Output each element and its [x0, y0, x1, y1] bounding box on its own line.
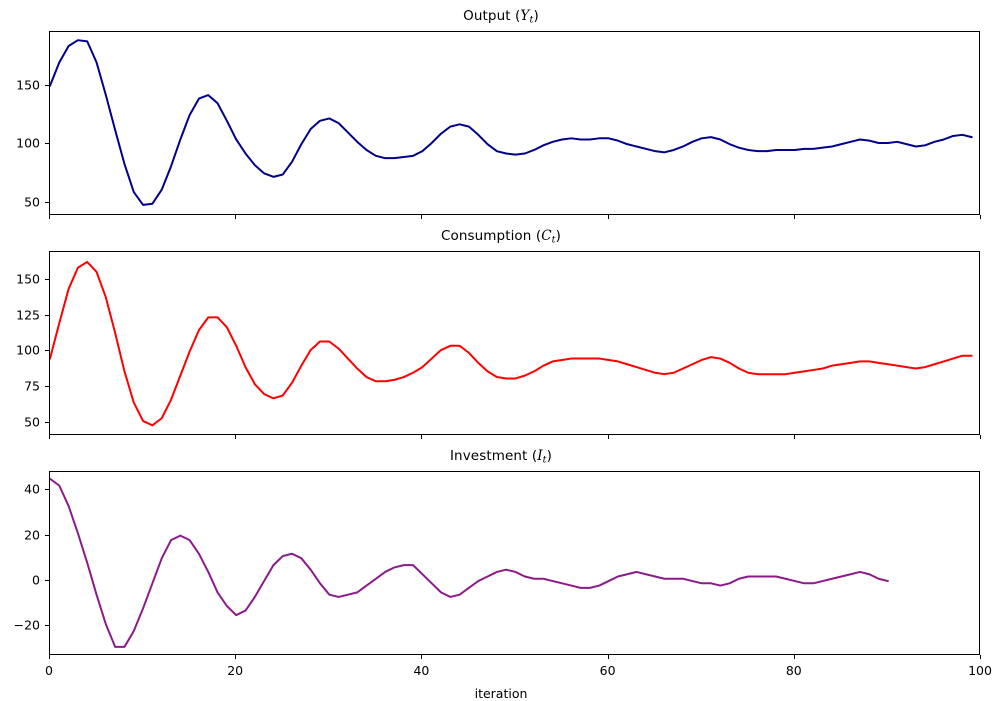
ytick-mark	[45, 489, 49, 490]
plot-area-investment	[49, 471, 980, 655]
xtick-mark	[49, 655, 50, 659]
xtick-mark	[608, 655, 609, 659]
xtick-mark	[794, 215, 795, 219]
panel-title-output: Output (Yt)	[0, 8, 1002, 25]
ytick-mark	[45, 386, 49, 387]
plot-area-output	[49, 31, 980, 215]
xtick-mark	[49, 435, 50, 439]
xtick-mark	[980, 435, 981, 439]
series-canvas-consumption	[50, 252, 981, 436]
xtick-mark	[235, 435, 236, 439]
ytick-mark	[45, 202, 49, 203]
ytick-label: −20	[0, 618, 40, 633]
series-canvas-output	[50, 32, 981, 216]
ytick-label: 75	[0, 378, 40, 393]
xtick-label: 80	[786, 663, 802, 678]
xtick-mark	[235, 655, 236, 659]
ytick-label: 50	[0, 414, 40, 429]
data-line-consumption	[50, 262, 972, 425]
xtick-mark	[421, 215, 422, 219]
xtick-mark	[980, 215, 981, 219]
xtick-label: 100	[968, 663, 992, 678]
xtick-mark	[794, 435, 795, 439]
xtick-label: 0	[45, 663, 53, 678]
plot-area-consumption	[49, 251, 980, 435]
xtick-mark	[421, 435, 422, 439]
panel-title-investment: Investment (It)	[0, 448, 1002, 465]
ytick-mark	[45, 279, 49, 280]
panel-title-text: Output (	[463, 8, 520, 24]
xtick-mark	[980, 655, 981, 659]
ytick-label: 125	[0, 307, 40, 322]
panel-title-text: Consumption (	[441, 228, 541, 244]
ytick-mark	[45, 625, 49, 626]
panel-title-close: )	[547, 448, 552, 464]
xtick-mark	[794, 655, 795, 659]
xtick-mark	[421, 655, 422, 659]
panel-title-consumption: Consumption (Ct)	[0, 228, 1002, 245]
ytick-label: 0	[0, 573, 40, 588]
data-line-investment	[50, 479, 888, 647]
ytick-label: 50	[0, 194, 40, 209]
panel-title-close: )	[533, 8, 538, 24]
ytick-mark	[45, 350, 49, 351]
panel-title-close: )	[556, 228, 561, 244]
ytick-label: 150	[0, 77, 40, 92]
series-canvas-investment	[50, 472, 981, 656]
xtick-mark	[235, 215, 236, 219]
xaxis-label: iteration	[0, 686, 1002, 701]
data-line-output	[50, 40, 972, 205]
xtick-label: 20	[227, 663, 243, 678]
panel-title-text: Investment (	[450, 448, 537, 464]
ytick-label: 100	[0, 136, 40, 151]
xtick-mark	[608, 435, 609, 439]
ytick-label: 40	[0, 482, 40, 497]
ytick-mark	[45, 315, 49, 316]
figure-canvas: Output (Yt)50100150Consumption (Ct)50751…	[0, 0, 1002, 701]
ytick-label: 150	[0, 272, 40, 287]
ytick-label: 100	[0, 343, 40, 358]
ytick-mark	[45, 422, 49, 423]
ytick-label: 20	[0, 527, 40, 542]
ytick-mark	[45, 143, 49, 144]
xtick-label: 60	[600, 663, 616, 678]
ytick-mark	[45, 535, 49, 536]
ytick-mark	[45, 580, 49, 581]
xtick-mark	[608, 215, 609, 219]
xtick-mark	[49, 215, 50, 219]
panel-title-variable: C	[541, 228, 551, 244]
ytick-mark	[45, 85, 49, 86]
xtick-label: 40	[413, 663, 429, 678]
